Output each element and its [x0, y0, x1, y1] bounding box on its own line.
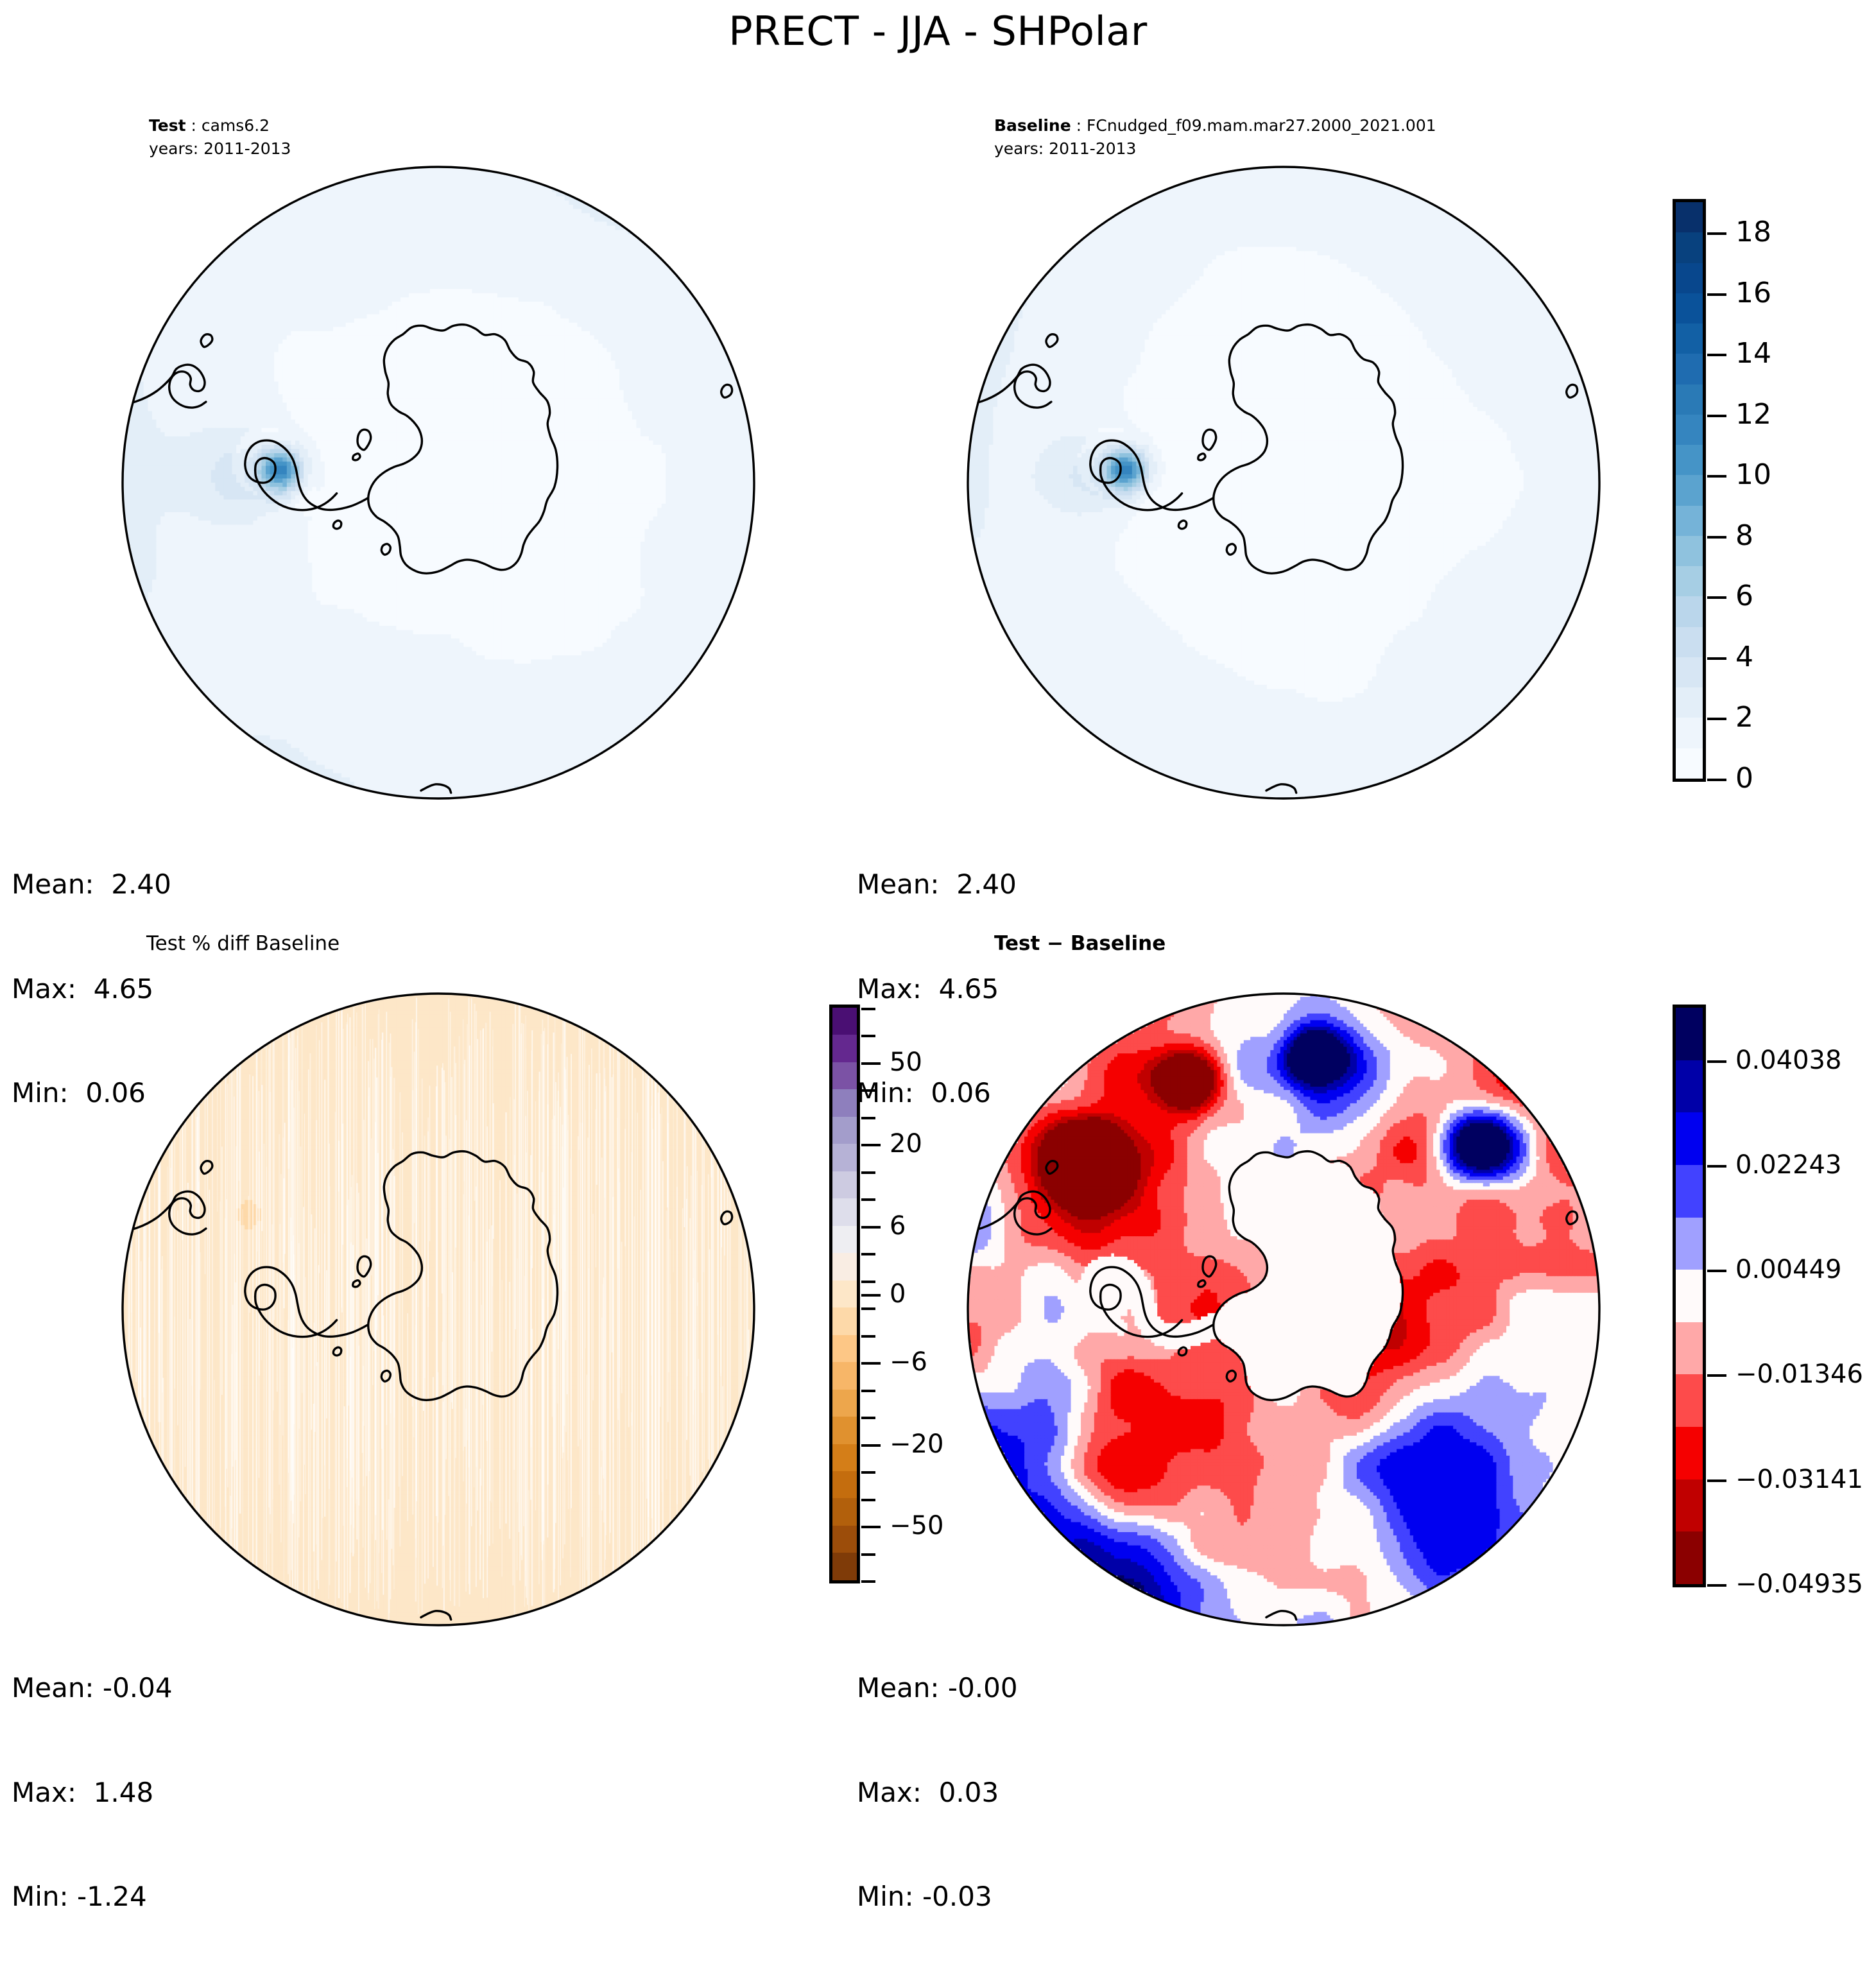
- colorbar-minor-tick: [861, 1417, 875, 1419]
- figure-root: PRECT - JJA - SHPolar Test : cams6.2 yea…: [0, 0, 1876, 1712]
- pctdiff-stat-min: Min: -1.24: [12, 1879, 173, 1914]
- colorbar-band: [1676, 415, 1703, 445]
- colorbar-tick: [1707, 536, 1726, 539]
- colorbar-band: [1676, 596, 1703, 626]
- colorbar-band: [1676, 687, 1703, 718]
- colorbar-band: [832, 1171, 857, 1198]
- colorbar-band: [832, 1553, 857, 1580]
- colorbar-tick-label: −20: [890, 1431, 943, 1457]
- diff-stat-mean: Mean: -0.00: [857, 1671, 1018, 1705]
- colorbar-band: [1676, 1374, 1703, 1427]
- colorbar-minor-tick: [861, 1281, 875, 1283]
- colorbar-tick-label: −0.04935: [1735, 1571, 1863, 1597]
- colorbar-tick: [1707, 1165, 1726, 1168]
- colorbar-tick: [1707, 718, 1726, 720]
- colorbar-minor-tick: [861, 1089, 875, 1092]
- colorbar-band: [832, 1498, 857, 1525]
- colorbar-band: [832, 1062, 857, 1089]
- cb-main-bar[interactable]: [1673, 199, 1706, 782]
- colorbar-band: [1676, 1008, 1703, 1060]
- colorbar-minor-tick: [861, 1307, 875, 1310]
- colorbar-tick-label: 0: [1735, 764, 1753, 793]
- colorbar-tick: [1707, 354, 1726, 356]
- colorbar-band: [1676, 1112, 1703, 1165]
- colorbar-tick: [1707, 1374, 1726, 1377]
- colorbar-band: [1676, 1060, 1703, 1113]
- colorbar-band: [1676, 354, 1703, 384]
- colorbar-tick: [861, 1062, 881, 1065]
- colorbar-band: [1676, 202, 1703, 232]
- colorbar-tick: [1707, 1060, 1726, 1063]
- test-stat-mean: Mean: 2.40: [12, 867, 171, 902]
- map-test: [117, 162, 759, 804]
- pctdiff-map-graphic: [117, 988, 759, 1630]
- test-label: Test: [149, 116, 186, 135]
- colorbar-minor-tick: [861, 1171, 875, 1174]
- colorbar-minor-tick: [861, 1553, 875, 1556]
- pctdiff-stat-max: Max: 1.48: [12, 1775, 173, 1810]
- colorbar-band: [1676, 1427, 1703, 1479]
- colorbar-band: [832, 1253, 857, 1280]
- colorbar-band: [832, 1526, 857, 1553]
- diff-map-graphic: [963, 988, 1605, 1630]
- colorbar-minor-tick: [861, 1253, 875, 1255]
- colorbar-band: [832, 1198, 857, 1225]
- test-panel-header: Test : cams6.2 years: 2011-2013: [149, 114, 291, 160]
- colorbar-tick: [861, 1294, 881, 1297]
- main-colorbar[interactable]: 024681012141618: [1673, 199, 1865, 783]
- colorbar-minor-tick: [861, 1117, 875, 1119]
- colorbar-band: [832, 1035, 857, 1062]
- colorbar-tick: [1707, 475, 1726, 478]
- colorbar-tick: [1707, 657, 1726, 660]
- colorbar-tick-label: 10: [1735, 461, 1771, 489]
- colorbar-tick: [1707, 1584, 1726, 1587]
- colorbar-tick: [1707, 293, 1726, 296]
- colorbar-tick-label: 0.04038: [1735, 1048, 1841, 1073]
- colorbar-band: [1676, 1531, 1703, 1584]
- diff-stats: Mean: -0.00 Max: 0.03 Min: -0.03: [857, 1601, 1018, 1984]
- colorbar-band: [1676, 384, 1703, 415]
- colorbar-band: [1676, 1322, 1703, 1375]
- colorbar-tick-label: 16: [1735, 279, 1771, 307]
- colorbar-minor-tick: [861, 1008, 875, 1010]
- colorbar-tick: [1707, 415, 1726, 417]
- colorbar-band: [832, 1307, 857, 1334]
- colorbar-minor-tick: [861, 1471, 875, 1474]
- colorbar-band: [832, 1390, 857, 1417]
- cb-pct-bar[interactable]: [829, 1005, 860, 1583]
- colorbar-band: [832, 1471, 857, 1498]
- colorbar-tick: [1707, 779, 1726, 781]
- test-map-graphic: [117, 162, 759, 804]
- colorbar-band: [1676, 323, 1703, 354]
- colorbar-tick-label: 2: [1735, 703, 1753, 732]
- colorbar-tick-label: 14: [1735, 340, 1771, 368]
- baseline-map-graphic: [963, 162, 1605, 804]
- baseline-stat-mean: Mean: 2.40: [857, 867, 1017, 902]
- colorbar-tick-label: 50: [890, 1049, 922, 1075]
- colorbar-tick: [1707, 596, 1726, 599]
- colorbar-band: [832, 1362, 857, 1389]
- colorbar-tick: [861, 1444, 881, 1447]
- test-sep: :: [186, 116, 202, 135]
- colorbar-tick: [861, 1362, 881, 1365]
- colorbar-tick: [1707, 232, 1726, 235]
- diff-title: Test − Baseline: [994, 932, 1166, 955]
- diff-stat-max: Max: 0.03: [857, 1775, 1018, 1810]
- pctdiff-stat-mean: Mean: -0.04: [12, 1671, 173, 1705]
- cb-diff-bar[interactable]: [1673, 1005, 1706, 1587]
- colorbar-band: [832, 1226, 857, 1253]
- colorbar-band: [1676, 657, 1703, 687]
- colorbar-band: [832, 1444, 857, 1471]
- diff-stat-min: Min: -0.03: [857, 1879, 1018, 1914]
- colorbar-tick: [1707, 1479, 1726, 1482]
- baseline-panel-header: Baseline : FCnudged_f09.mam.mar27.2000_2…: [994, 114, 1436, 160]
- colorbar-minor-tick: [861, 1580, 875, 1583]
- colorbar-minor-tick: [861, 1198, 875, 1201]
- map-pctdiff: [117, 988, 759, 1630]
- colorbar-band: [1676, 445, 1703, 475]
- map-diff: [963, 988, 1605, 1630]
- baseline-sep: :: [1071, 116, 1087, 135]
- colorbar-band: [1676, 748, 1703, 779]
- diff-colorbar[interactable]: 0.040380.022430.00449−0.01346−0.03141−0.…: [1673, 1005, 1876, 1589]
- colorbar-band: [832, 1417, 857, 1444]
- colorbar-band: [1676, 506, 1703, 536]
- colorbar-tick-label: 0: [890, 1281, 906, 1307]
- colorbar-minor-tick: [861, 1035, 875, 1037]
- baseline-label: Baseline: [994, 116, 1071, 135]
- colorbar-band: [1676, 293, 1703, 323]
- colorbar-band: [1676, 1270, 1703, 1322]
- colorbar-band: [832, 1008, 857, 1035]
- colorbar-tick-label: −0.01346: [1735, 1361, 1863, 1387]
- colorbar-tick: [861, 1226, 881, 1229]
- colorbar-band: [832, 1335, 857, 1362]
- colorbar-tick: [861, 1144, 881, 1146]
- colorbar-tick-label: 0.00449: [1735, 1257, 1841, 1282]
- pctdiff-stats: Mean: -0.04 Max: 1.48 Min: -1.24: [12, 1601, 173, 1984]
- colorbar-tick-label: 20: [890, 1131, 922, 1157]
- colorbar-band: [832, 1089, 857, 1116]
- colorbar-band: [1676, 536, 1703, 566]
- colorbar-tick-label: 12: [1735, 401, 1771, 429]
- colorbar-band: [1676, 566, 1703, 596]
- colorbar-tick-label: −6: [890, 1349, 927, 1375]
- map-baseline: [963, 162, 1605, 804]
- colorbar-band: [832, 1281, 857, 1307]
- colorbar-band: [832, 1144, 857, 1171]
- colorbar-tick: [1707, 1270, 1726, 1272]
- baseline-years: years: 2011-2013: [994, 137, 1436, 160]
- colorbar-band: [1676, 1218, 1703, 1270]
- colorbar-tick-label: −0.03141: [1735, 1467, 1863, 1492]
- colorbar-tick-label: 8: [1735, 522, 1753, 550]
- colorbar-tick-label: 6: [890, 1213, 906, 1239]
- colorbar-band: [832, 1117, 857, 1144]
- colorbar-minor-tick: [861, 1499, 875, 1501]
- baseline-value: FCnudged_f09.mam.mar27.2000_2021.001: [1087, 116, 1436, 135]
- test-value: cams6.2: [202, 116, 270, 135]
- colorbar-tick-label: 18: [1735, 218, 1771, 246]
- pctdiff-title: Test % diff Baseline: [146, 932, 340, 955]
- colorbar-band: [1676, 1479, 1703, 1532]
- test-years: years: 2011-2013: [149, 137, 291, 160]
- colorbar-minor-tick: [861, 1390, 875, 1392]
- colorbar-band: [1676, 475, 1703, 505]
- colorbar-band: [1676, 263, 1703, 293]
- figure-title: PRECT - JJA - SHPolar: [0, 8, 1876, 55]
- colorbar-minor-tick: [861, 1335, 875, 1338]
- colorbar-band: [1676, 627, 1703, 657]
- colorbar-tick-label: 6: [1735, 582, 1753, 610]
- colorbar-tick-label: 4: [1735, 643, 1753, 671]
- colorbar-tick-label: −50: [890, 1513, 943, 1539]
- colorbar-band: [1676, 718, 1703, 748]
- colorbar-band: [1676, 232, 1703, 263]
- colorbar-tick: [861, 1526, 881, 1528]
- colorbar-band: [1676, 1165, 1703, 1218]
- colorbar-tick-label: 0.02243: [1735, 1152, 1841, 1178]
